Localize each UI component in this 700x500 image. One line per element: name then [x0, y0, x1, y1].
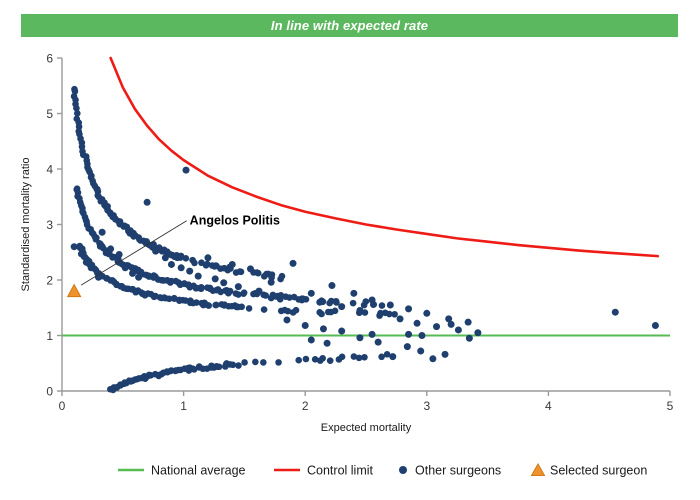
surgeon-point[interactable] — [212, 275, 219, 282]
surgeon-point[interactable] — [122, 264, 129, 271]
x-tick-label: 3 — [423, 399, 430, 413]
surgeon-point[interactable] — [404, 343, 411, 350]
surgeon-point[interactable] — [255, 288, 262, 295]
surgeon-point[interactable] — [235, 283, 242, 290]
surgeon-point[interactable] — [116, 251, 123, 258]
surgeon-point[interactable] — [195, 273, 202, 280]
surgeon-point[interactable] — [186, 268, 193, 275]
y-tick-label: 2 — [46, 274, 53, 288]
y-tick-label: 0 — [46, 385, 53, 399]
surgeon-point[interactable] — [612, 309, 619, 316]
surgeon-point[interactable] — [320, 325, 327, 332]
surgeon-point[interactable] — [252, 359, 259, 366]
y-tick-label: 4 — [46, 163, 53, 177]
surgeon-point[interactable] — [433, 323, 440, 330]
surgeon-point[interactable] — [238, 304, 245, 311]
surgeon-point[interactable] — [247, 265, 254, 272]
surgeon-point[interactable] — [205, 302, 212, 309]
legend-item-label: Selected surgeon — [550, 464, 647, 478]
surgeon-point[interactable] — [474, 329, 481, 336]
surgeon-point[interactable] — [423, 310, 430, 317]
surgeon-point[interactable] — [78, 250, 85, 257]
surgeon-point[interactable] — [379, 302, 386, 309]
surgeon-point[interactable] — [204, 254, 211, 261]
surgeon-point[interactable] — [318, 311, 325, 318]
legend-item-label: Other surgeons — [415, 464, 501, 478]
surgeon-point[interactable] — [429, 355, 436, 362]
funnel-plot-page: In line with expected rate 0123456012345… — [0, 0, 700, 500]
surgeon-point[interactable] — [144, 199, 151, 206]
surgeon-point[interactable] — [397, 315, 404, 322]
x-tick-label: 4 — [545, 399, 552, 413]
other-surgeons-points[interactable] — [71, 86, 659, 393]
surgeon-point[interactable] — [361, 302, 368, 309]
surgeon-point[interactable] — [418, 332, 425, 339]
surgeon-point[interactable] — [295, 357, 302, 364]
funnel-plot-chart: 0123456012345 Angelos Politis Expected m… — [0, 0, 700, 500]
y-tick-label: 1 — [46, 329, 53, 343]
surgeon-point[interactable] — [405, 331, 412, 338]
surgeon-point[interactable] — [448, 321, 455, 328]
surgeon-point[interactable] — [135, 274, 142, 281]
surgeon-point[interactable] — [283, 316, 290, 323]
surgeon-point[interactable] — [356, 334, 363, 341]
surgeon-point[interactable] — [339, 354, 346, 361]
surgeon-point[interactable] — [260, 359, 267, 366]
surgeon-point[interactable] — [325, 309, 332, 316]
surgeon-point[interactable] — [107, 245, 114, 252]
surgeon-point[interactable] — [332, 308, 339, 315]
legend-marker-dot — [399, 466, 407, 474]
surgeon-point[interactable] — [328, 282, 335, 289]
surgeon-point[interactable] — [255, 270, 262, 277]
y-tick-label: 6 — [46, 52, 53, 66]
surgeon-point[interactable] — [326, 300, 333, 307]
surgeon-point[interactable] — [99, 229, 106, 236]
chart-legend: National averageControl limitOther surge… — [118, 464, 647, 478]
surgeon-point[interactable] — [391, 311, 398, 318]
surgeon-point[interactable] — [466, 335, 473, 342]
surgeon-point[interactable] — [227, 288, 234, 295]
surgeon-point[interactable] — [308, 336, 315, 343]
surgeon-point[interactable] — [216, 363, 223, 370]
surgeon-point[interactable] — [350, 290, 357, 297]
surgeon-point[interactable] — [88, 264, 95, 271]
legend-item-label: Control limit — [307, 464, 374, 478]
surgeon-point[interactable] — [316, 299, 323, 306]
annotation-label: Angelos Politis — [190, 214, 280, 228]
surgeon-point[interactable] — [293, 307, 300, 314]
surgeon-point[interactable] — [350, 300, 357, 307]
selected-surgeon-marker[interactable] — [68, 285, 81, 297]
surgeon-point[interactable] — [290, 260, 297, 267]
surgeon-point[interactable] — [198, 284, 205, 291]
surgeon-point[interactable] — [241, 359, 248, 366]
surgeon-point[interactable] — [162, 254, 169, 261]
legend-marker-triangle — [532, 464, 545, 476]
surgeon-point[interactable] — [299, 295, 306, 302]
surgeon-point[interactable] — [220, 279, 227, 286]
surgeon-point[interactable] — [442, 351, 449, 358]
surgeon-point[interactable] — [389, 353, 396, 360]
surgeon-point[interactable] — [168, 261, 175, 268]
surgeon-point[interactable] — [277, 292, 284, 299]
y-axis-title: Standardised mortality ratio — [20, 158, 32, 292]
surgeon-point[interactable] — [465, 319, 472, 326]
surgeon-point[interactable] — [303, 356, 310, 363]
surgeon-point[interactable] — [302, 322, 309, 329]
y-tick-label: 3 — [46, 218, 53, 232]
x-tick-label: 5 — [667, 399, 674, 413]
surgeon-point[interactable] — [375, 339, 382, 346]
surgeon-point[interactable] — [235, 362, 242, 369]
surgeon-point[interactable] — [414, 320, 421, 327]
surgeon-point[interactable] — [338, 328, 345, 335]
surgeon-point[interactable] — [261, 306, 268, 313]
surgeon-point[interactable] — [327, 357, 334, 364]
surgeon-point[interactable] — [377, 310, 384, 317]
surgeon-point[interactable] — [361, 354, 368, 361]
y-tick-label: 5 — [46, 107, 53, 121]
surgeon-point[interactable] — [229, 261, 236, 268]
surgeon-point[interactable] — [238, 268, 245, 275]
surgeon-point[interactable] — [241, 289, 248, 296]
surgeon-point[interactable] — [183, 255, 190, 262]
x-axis-title: Expected mortality — [321, 422, 412, 434]
surgeon-point[interactable] — [129, 270, 136, 277]
surgeon-point[interactable] — [369, 331, 376, 338]
surgeon-point[interactable] — [417, 348, 424, 355]
surgeon-point[interactable] — [268, 279, 275, 286]
surgeon-point[interactable] — [183, 167, 190, 174]
selected-surgeon-triangle[interactable] — [68, 285, 81, 297]
surgeon-point[interactable] — [317, 357, 324, 364]
surgeon-point[interactable] — [152, 248, 159, 255]
surgeon-point[interactable] — [212, 302, 219, 309]
surgeon-point[interactable] — [279, 273, 286, 280]
surgeon-point[interactable] — [324, 340, 331, 347]
surgeon-point[interactable] — [369, 296, 376, 303]
surgeon-point[interactable] — [455, 326, 462, 333]
surgeon-point[interactable] — [405, 305, 412, 312]
surgeon-point[interactable] — [356, 307, 363, 314]
x-tick-label: 2 — [302, 399, 309, 413]
x-tick-label: 1 — [180, 399, 187, 413]
legend-item-label: National average — [151, 464, 246, 478]
surgeon-point[interactable] — [230, 361, 237, 368]
surgeon-point[interactable] — [275, 359, 282, 366]
surgeon-point[interactable] — [246, 305, 253, 312]
surgeon-point[interactable] — [71, 243, 78, 250]
x-tick-label: 0 — [59, 399, 66, 413]
surgeon-point[interactable] — [387, 301, 394, 308]
surgeon-point[interactable] — [308, 290, 315, 297]
surgeon-point[interactable] — [338, 303, 345, 310]
surgeon-point[interactable] — [652, 322, 659, 329]
surgeon-point[interactable] — [178, 264, 185, 271]
surgeon-point[interactable] — [191, 260, 198, 267]
surgeon-point[interactable] — [83, 259, 90, 266]
